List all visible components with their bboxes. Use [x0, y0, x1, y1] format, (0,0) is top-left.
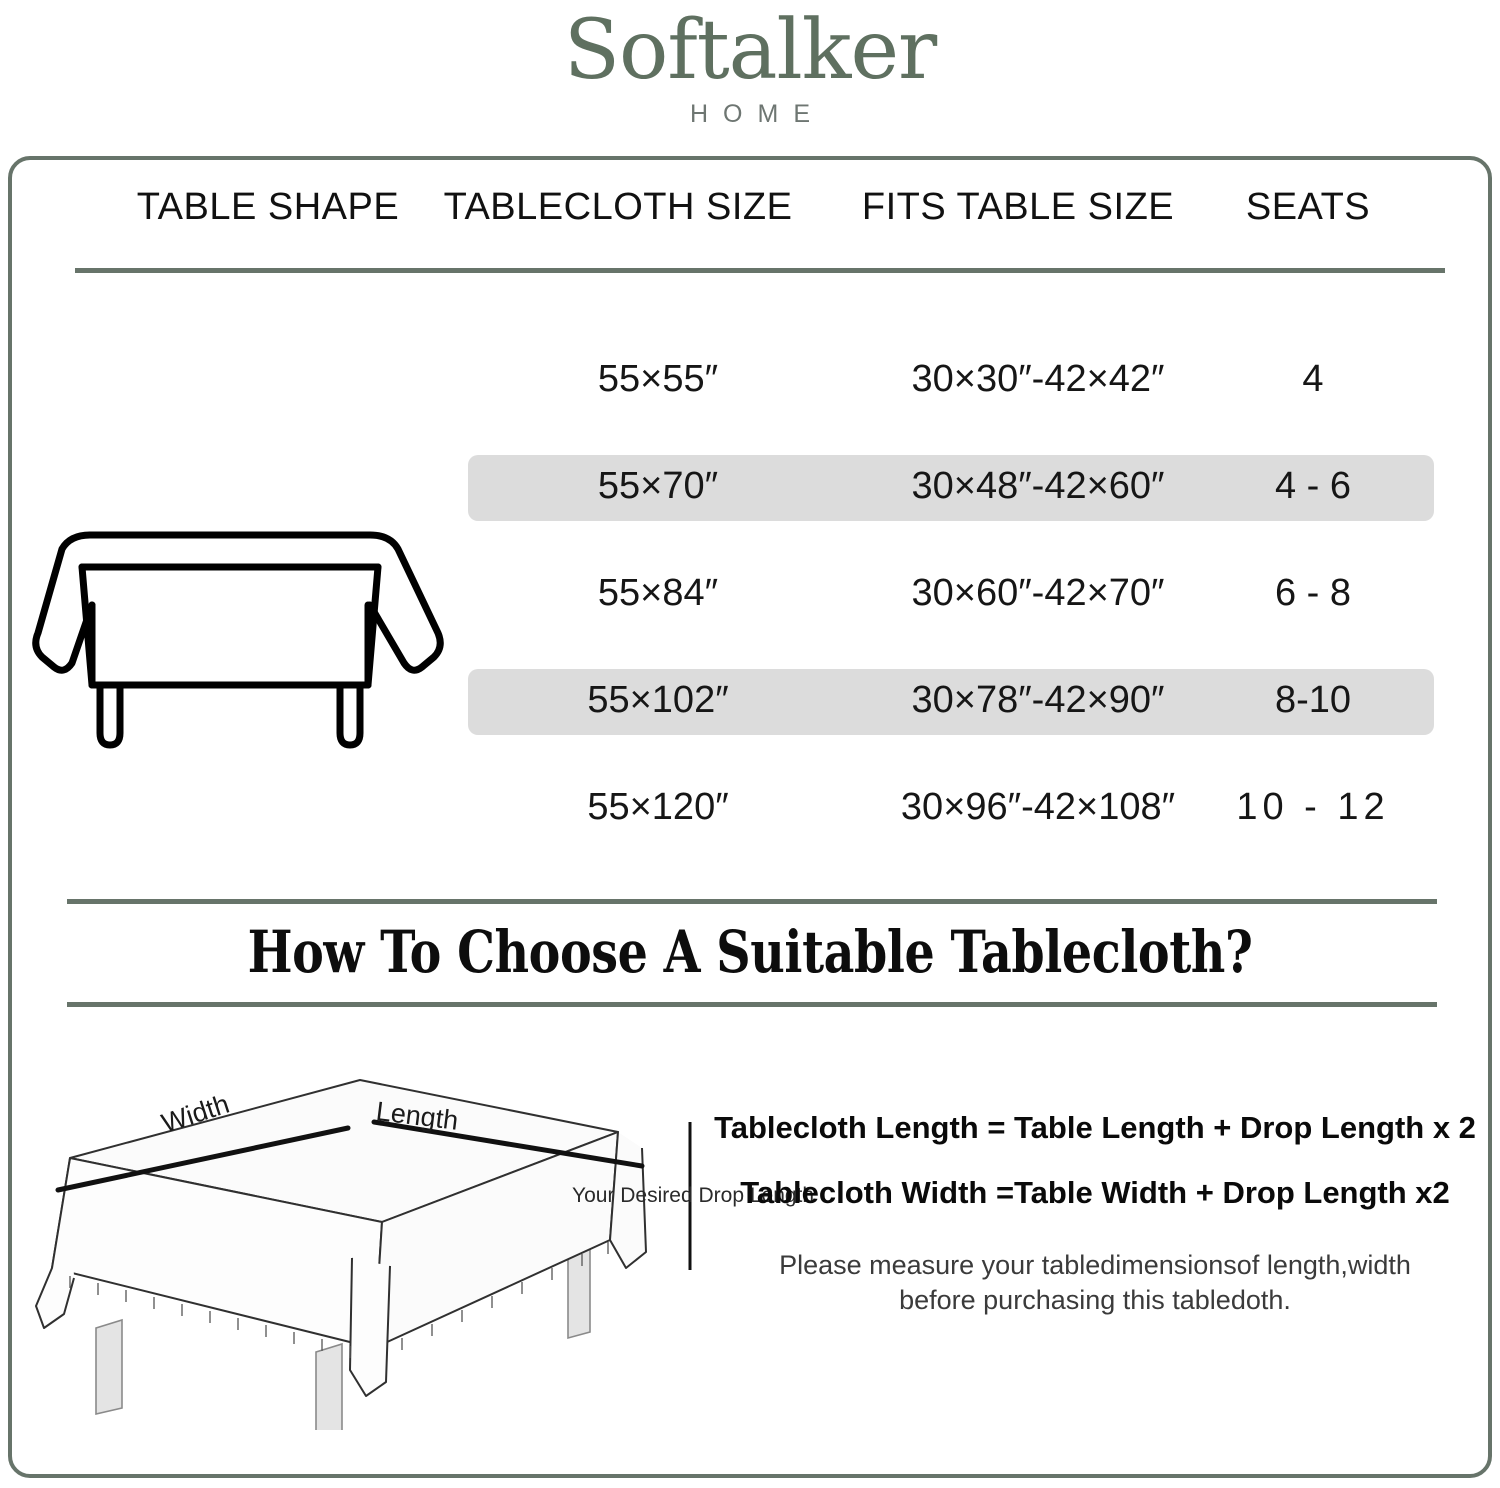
brand-logo-subtitle: HOME [0, 94, 1500, 129]
drop-label-line-1: Your Desired [572, 1184, 693, 1207]
formula-tablecloth-length: Tablecloth Length = Table Length + Drop … [700, 1112, 1490, 1143]
cell-tablecloth-size: 55×70″ [468, 451, 848, 521]
measure-note: Please measure your tabledimensionsof le… [700, 1248, 1490, 1317]
cell-fits-table-size: 30×60″-42×70″ [838, 558, 1238, 628]
section-divider-bottom [67, 1002, 1437, 1007]
cell-seats: 10 - 12 [1223, 772, 1403, 842]
brand-logo-name: Softalker [0, 0, 1500, 94]
note-line-1: Please measure your tabledimensionsof le… [700, 1248, 1490, 1283]
cell-fits-table-size: 30×48″-42×60″ [838, 451, 1238, 521]
cell-tablecloth-size: 55×120″ [468, 772, 848, 842]
cell-seats: 8-10 [1223, 665, 1403, 735]
table-row: 55×55″ 30×30″-42×42″ 4 [8, 344, 1492, 451]
cell-seats: 4 - 6 [1223, 451, 1403, 521]
column-header-tablecloth-size: TABLECLOTH SIZE [408, 186, 828, 229]
note-line-2: before purchasing this tabledoth. [700, 1283, 1490, 1318]
cell-seats: 6 - 8 [1223, 558, 1403, 628]
column-header-fits-table-size: FITS TABLE SIZE [808, 186, 1228, 229]
formula-tablecloth-width: Tablecloth Width =Table Width + Drop Len… [700, 1177, 1490, 1208]
cell-tablecloth-size: 55×102″ [468, 665, 848, 735]
cell-fits-table-size: 30×96″-42×108″ [838, 772, 1238, 842]
cell-seats: 4 [1223, 344, 1403, 414]
column-header-seats: SEATS [1188, 186, 1428, 229]
cell-fits-table-size: 30×78″-42×90″ [838, 665, 1238, 735]
brand-header: Softalker HOME [0, 0, 1500, 150]
cell-tablecloth-size: 55×84″ [468, 558, 848, 628]
cell-fits-table-size: 30×30″-42×42″ [838, 344, 1238, 414]
header-divider-rule [75, 268, 1445, 273]
table-row: 55×120″ 30×96″-42×108″ 10 - 12 [8, 772, 1492, 879]
section-divider-top [67, 899, 1437, 904]
rectangular-tablecloth-icon [30, 505, 450, 765]
cell-tablecloth-size: 55×55″ [468, 344, 848, 414]
table-header-row: TABLE SHAPE TABLECLOTH SIZE FITS TABLE S… [8, 186, 1492, 248]
section-title: How To Choose A Suitable Tablecloth? [135, 918, 1365, 986]
draped-table-diagram [30, 1070, 710, 1430]
formula-block: Tablecloth Length = Table Length + Drop … [700, 1112, 1490, 1208]
